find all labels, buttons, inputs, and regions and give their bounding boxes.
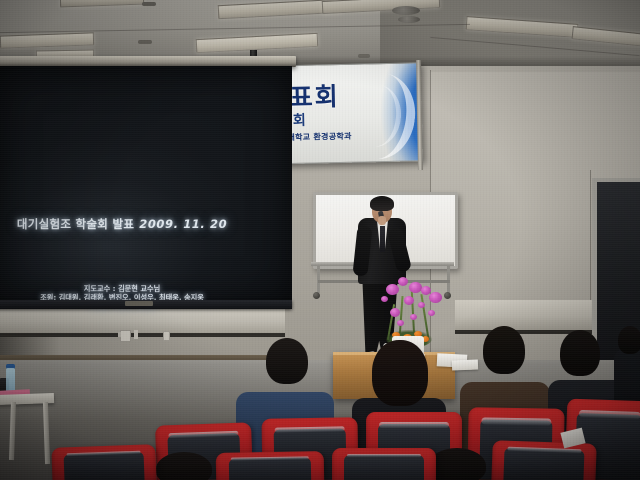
attendee-dark-coat-head [560,330,600,376]
seat-highlight [379,422,448,428]
auditorium-seat [216,451,325,480]
attendee-brown-jacket-head [483,326,525,374]
seat-cushion [344,455,423,480]
slide-title-text: 대기실험조 학술회 발표 [17,217,134,231]
seat-cushion [229,457,312,480]
wall-wainscot-right [455,300,595,334]
wall-outlet-plug [118,332,121,337]
projection-screen-weight [125,301,153,306]
whiteboard-wheel [313,292,320,299]
ceiling-vent [392,6,420,15]
slide-title: 대기실험조 학술회 발표2009. 11. 20 [0,216,248,232]
orchid-bloom [418,302,425,308]
whiteboard-wheel [444,292,451,299]
presenter-hand [378,216,386,225]
seat-highlight [347,454,422,458]
auditorium-seat [51,444,156,480]
orchid-bloom [397,320,404,326]
ceiling-vent [398,16,420,23]
orchid-bloom [390,308,400,317]
orchid-bloom [381,296,388,302]
attendee-right-edge-head [618,326,640,354]
auditorium-seat [491,440,596,480]
orchid-bloom [404,296,414,305]
wall-wainscot-left [0,307,285,337]
orchid-bloom [386,284,399,295]
auditorium-seat [332,448,436,480]
attendee-near-camera-left-head [156,452,212,480]
orchid-bloom [428,310,435,316]
whiteboard-leg [447,265,450,293]
photo-scene: 발표회 발표회 : 대구대학교 환경공학과 대기실험조 학술회 발표2009. … [0,0,640,480]
orchid-bloom [410,314,417,320]
orchid-bloom [398,277,408,286]
presenter-tie [380,226,385,252]
projection-screen: 대기실험조 학술회 발표2009. 11. 20 지도교수 : 김문현 교수님 … [0,66,292,304]
attendee-near-camera-right-head [428,448,486,480]
whiteboard-leg [317,265,320,293]
wall-switch [163,331,170,341]
attendee-blue-hoodie-head [266,338,308,384]
orchid-bloom [409,282,422,293]
presenter-hair [370,196,394,211]
slide-title-date: 2009. 11. 20 [139,217,227,231]
attendee-long-hair-head [372,340,428,406]
paper-on-table [452,360,478,371]
wall-conduit [134,330,138,339]
wall-outlet [120,330,131,342]
seat-highlight [482,417,551,425]
orchid-bloom [429,292,442,303]
ceiling-fixture [138,40,152,44]
ceiling-fixture [142,2,156,6]
